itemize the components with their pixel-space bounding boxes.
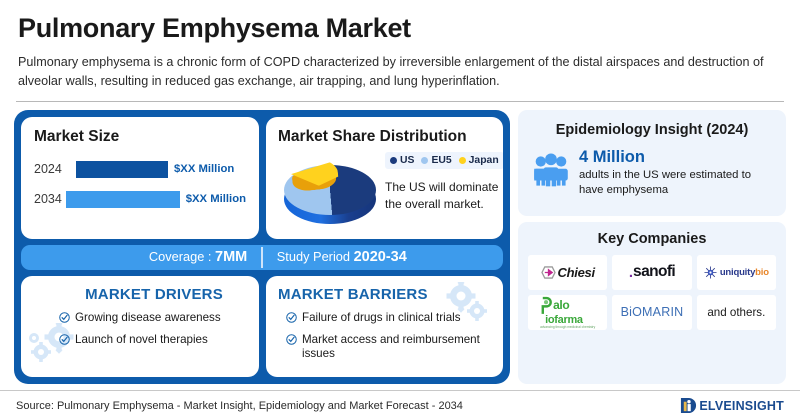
key-companies-card: Key Companies Chiesi .sanofi <box>518 222 786 384</box>
market-share-right: US EU5 Japan The US will dominate <box>382 152 503 228</box>
page-title: Pulmonary Emphysema Market <box>18 14 782 44</box>
top-cards-row: Market Size 2024 $XX Million 2034 $XX Mi… <box>21 117 503 239</box>
coverage-value: 7MM <box>215 249 247 265</box>
logo-uniquitybio: uniquitybio <box>697 255 776 290</box>
list-item: Failure of drugs in clinical trials <box>286 311 493 325</box>
market-drivers-card: MARKET DRIVERS Growing disease awareness <box>21 276 259 376</box>
coverage-label: Coverage : <box>149 249 215 264</box>
epidemiology-stat: 4 Million <box>579 149 772 166</box>
epidemiology-text: 4 Million adults in the US were estimate… <box>579 149 772 199</box>
pie-legend: US EU5 Japan <box>385 152 503 169</box>
market-barriers-title: MARKET BARRIERS <box>278 286 493 303</box>
list-item-label: Market access and reimbursement issues <box>302 333 493 362</box>
legend-label-japan: Japan <box>469 155 499 166</box>
list-item: Market access and reimbursement issues <box>286 333 493 362</box>
left-panel-frame: Market Size 2024 $XX Million 2034 $XX Mi… <box>14 110 510 384</box>
bar-value-2034: $XX Million <box>186 193 246 205</box>
people-group-icon <box>532 149 570 193</box>
delveinsight-mark-icon <box>680 397 697 414</box>
list-item-label: Failure of drugs in clinical trials <box>302 311 461 325</box>
coverage-strip: Coverage : 7MM Study Period 2020-34 <box>21 245 503 271</box>
list-item-label: Launch of novel therapies <box>75 333 208 347</box>
market-barriers-card: MARKET BARRIERS Failure of drugs in clin… <box>266 276 503 376</box>
logo-label: alo iofarma advancing through medicinal … <box>540 295 595 329</box>
study-period-value: 2020-34 <box>354 249 407 265</box>
legend-item-japan: Japan <box>459 155 499 166</box>
bar-2034 <box>66 191 180 208</box>
chiesi-mark-icon <box>541 266 556 279</box>
logo-label: and others. <box>707 306 765 319</box>
legend-label-eu5: EU5 <box>431 155 451 166</box>
bar-value-2024: $XX Million <box>174 163 234 175</box>
check-circle-icon <box>286 312 297 323</box>
legend-swatch-us <box>390 157 397 164</box>
page-subtitle: Pulmonary emphysema is a chronic form of… <box>18 53 782 92</box>
study-period-label: Study Period <box>277 249 354 264</box>
bar-2024 <box>76 161 168 178</box>
legend-label-us: US <box>400 155 414 166</box>
check-circle-icon <box>286 334 297 345</box>
market-drivers-list: Growing disease awareness Launch of nove… <box>31 311 249 347</box>
check-circle-icon <box>59 334 70 345</box>
bar-year-label: 2024 <box>34 162 72 176</box>
market-share-card: Market Share Distribution US <box>266 117 503 239</box>
logo-sanofi: .sanofi <box>612 255 691 290</box>
bar-row-2024: 2024 $XX Million <box>34 161 246 178</box>
uniquity-starburst-icon <box>704 266 717 279</box>
market-size-title: Market Size <box>34 128 246 146</box>
epidemiology-card: Epidemiology Insight (2024) <box>518 110 786 216</box>
brand-text: ELVEINSIGHT <box>699 399 784 413</box>
list-item: Launch of novel therapies <box>59 333 249 347</box>
coverage-right: Study Period 2020-34 <box>263 249 503 265</box>
legend-swatch-japan <box>459 157 466 164</box>
coverage-left: Coverage : 7MM <box>21 249 261 265</box>
key-companies-title: Key Companies <box>528 231 776 247</box>
pie-chart <box>278 152 382 228</box>
list-item-label: Growing disease awareness <box>75 311 221 325</box>
list-item: Growing disease awareness <box>59 311 249 325</box>
market-share-content: US EU5 Japan The US will dominate <box>278 152 491 228</box>
market-drivers-title: MARKET DRIVERS <box>31 286 249 303</box>
bar-year-label: 2034 <box>34 192 62 206</box>
logo-label: Chiesi <box>558 265 595 280</box>
logo-biomarin: BiOMARIN <box>612 295 691 330</box>
legend-swatch-eu5 <box>421 157 428 164</box>
page-header: Pulmonary Emphysema Market Pulmonary emp… <box>0 0 800 92</box>
logo-palobiofarma: alo iofarma advancing through medicinal … <box>528 295 607 330</box>
logo-label: BiOMARIN <box>621 305 684 319</box>
right-column: Epidemiology Insight (2024) <box>518 110 786 384</box>
market-share-title: Market Share Distribution <box>278 128 491 146</box>
epidemiology-body: 4 Million adults in the US were estimate… <box>532 149 772 199</box>
logo-and-others: and others. <box>697 295 776 330</box>
palo-p-icon <box>540 295 553 315</box>
market-barriers-list: Failure of drugs in clinical trials Mark… <box>278 311 493 361</box>
logo-chiesi: Chiesi <box>528 255 607 290</box>
legend-item-us: US <box>390 155 414 166</box>
epidemiology-description: adults in the US were estimated to have … <box>579 168 772 199</box>
logo-label: sanofi <box>633 263 675 281</box>
market-share-note: The US will dominate the overall market. <box>385 179 503 213</box>
bottom-cards-row: MARKET DRIVERS Growing disease awareness <box>21 276 503 376</box>
delveinsight-logo: ELVEINSIGHT <box>680 397 784 414</box>
market-size-card: Market Size 2024 $XX Million 2034 $XX Mi… <box>21 117 259 239</box>
bar-row-2034: 2034 $XX Million <box>34 191 246 208</box>
logo-label: uniquitybio <box>720 267 769 278</box>
market-size-bar-chart: 2024 $XX Million 2034 $XX Million <box>34 161 246 208</box>
check-circle-icon <box>59 312 70 323</box>
source-text: Source: Pulmonary Emphysema - Market Ins… <box>16 400 463 412</box>
epidemiology-title: Epidemiology Insight (2024) <box>532 122 772 138</box>
body-area: Market Size 2024 $XX Million 2034 $XX Mi… <box>0 102 800 384</box>
key-companies-logo-grid: Chiesi .sanofi uniquitybio <box>528 255 776 330</box>
legend-item-eu5: EU5 <box>421 155 451 166</box>
page-footer: Source: Pulmonary Emphysema - Market Ins… <box>0 390 800 420</box>
